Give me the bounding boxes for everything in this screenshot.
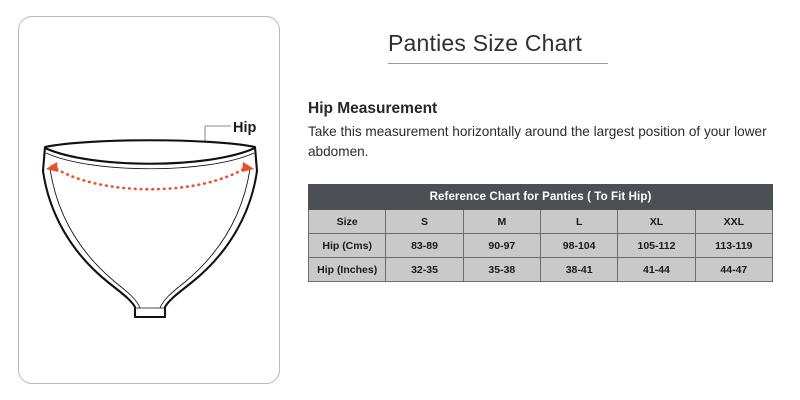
table-cell: 32-35	[386, 258, 463, 282]
table-row-label: Hip (Cms)	[309, 234, 386, 258]
table-corner-label: Size	[309, 210, 386, 234]
garment-outline	[43, 140, 257, 317]
title-underline	[388, 63, 608, 64]
table-cell: 113-119	[695, 234, 772, 258]
table-cell: 98-104	[540, 234, 617, 258]
table-cell: 44-47	[695, 258, 772, 282]
panties-technical-drawing: Hip	[19, 17, 281, 385]
illustration-card: Hip	[18, 16, 280, 384]
table-header-cell-s: S	[386, 210, 463, 234]
measurement-heading: Hip Measurement	[308, 100, 437, 118]
content-panel: Panties Size Chart Hip Measurement Take …	[300, 0, 800, 400]
table-header-cell-xxl: XXL	[695, 210, 772, 234]
page-title: Panties Size Chart	[388, 30, 582, 57]
table-header-cell-xl: XL	[618, 210, 695, 234]
table-cell: 41-44	[618, 258, 695, 282]
table-caption-row: Reference Chart for Panties ( To Fit Hip…	[309, 185, 773, 210]
table-row-label: Hip (Inches)	[309, 258, 386, 282]
hip-measurement-label: Hip	[233, 120, 257, 136]
measurement-description: Take this measurement horizontally aroun…	[308, 122, 786, 162]
size-chart-page: Hip Panties Size Chart Hip Measurement T…	[0, 0, 800, 400]
size-table-container: Reference Chart for Panties ( To Fit Hip…	[308, 184, 773, 282]
table-cell: 38-41	[540, 258, 617, 282]
table-cell: 105-112	[618, 234, 695, 258]
table-cell: 83-89	[386, 234, 463, 258]
table-cell: 35-38	[463, 258, 540, 282]
table-header-cell-m: M	[463, 210, 540, 234]
table-caption: Reference Chart for Panties ( To Fit Hip…	[309, 185, 773, 210]
table-row: Hip (Inches)32-3535-3838-4141-4444-47	[309, 258, 773, 282]
table-header-row: SizeSMLXLXXL	[309, 210, 773, 234]
reference-size-table: Reference Chart for Panties ( To Fit Hip…	[308, 184, 773, 282]
table-cell: 90-97	[463, 234, 540, 258]
table-row: Hip (Cms)83-8990-9798-104105-112113-119	[309, 234, 773, 258]
table-header-cell-l: L	[540, 210, 617, 234]
